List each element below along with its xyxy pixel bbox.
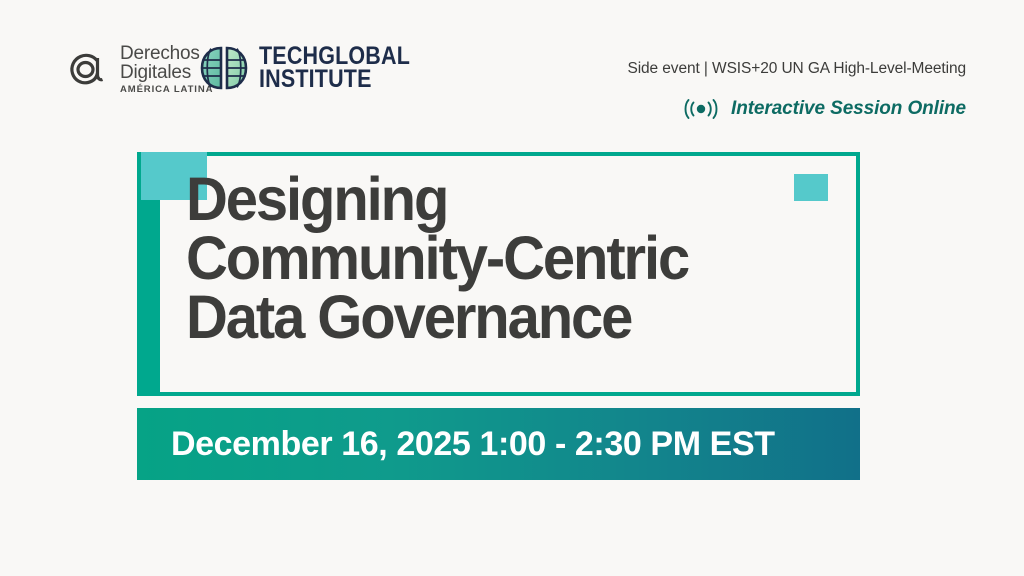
page-title-line-1: Designing: [186, 170, 813, 229]
interactive-session-row: Interactive Session Online: [680, 98, 966, 120]
date-banner: December 16, 2025 1:00 - 2:30 PM EST: [137, 408, 860, 480]
logo-techglobal-institute[interactable]: TECHGLOBAL INSTITUTE: [198, 44, 435, 92]
broadcast-signal-icon: [680, 98, 722, 120]
date-time-label: December 16, 2025 1:00 - 2:30 PM EST: [171, 425, 775, 464]
logo-derechos-digitales[interactable]: Derechos Digitales AMÉRICA LATINA: [64, 44, 213, 94]
page-title-line-3: Data Governance: [186, 288, 813, 347]
at-sign-logo-icon: [64, 47, 110, 91]
page-title: Designing Community-Centric Data Governa…: [186, 170, 813, 347]
logo-tg-line2: INSTITUTE: [259, 68, 410, 91]
header: Derechos Digitales AMÉRICA LATINA: [0, 0, 1024, 140]
interactive-session-label: Interactive Session Online: [731, 98, 966, 120]
title-left-accent-bar: [137, 170, 160, 396]
split-globe-logo-icon: [198, 44, 250, 92]
side-event-label: Side event | WSIS+20 UN GA High-Level-Me…: [627, 60, 966, 78]
page-title-line-2: Community-Centric: [186, 229, 813, 288]
logo-techglobal-wordmark: TECHGLOBAL INSTITUTE: [259, 45, 435, 92]
